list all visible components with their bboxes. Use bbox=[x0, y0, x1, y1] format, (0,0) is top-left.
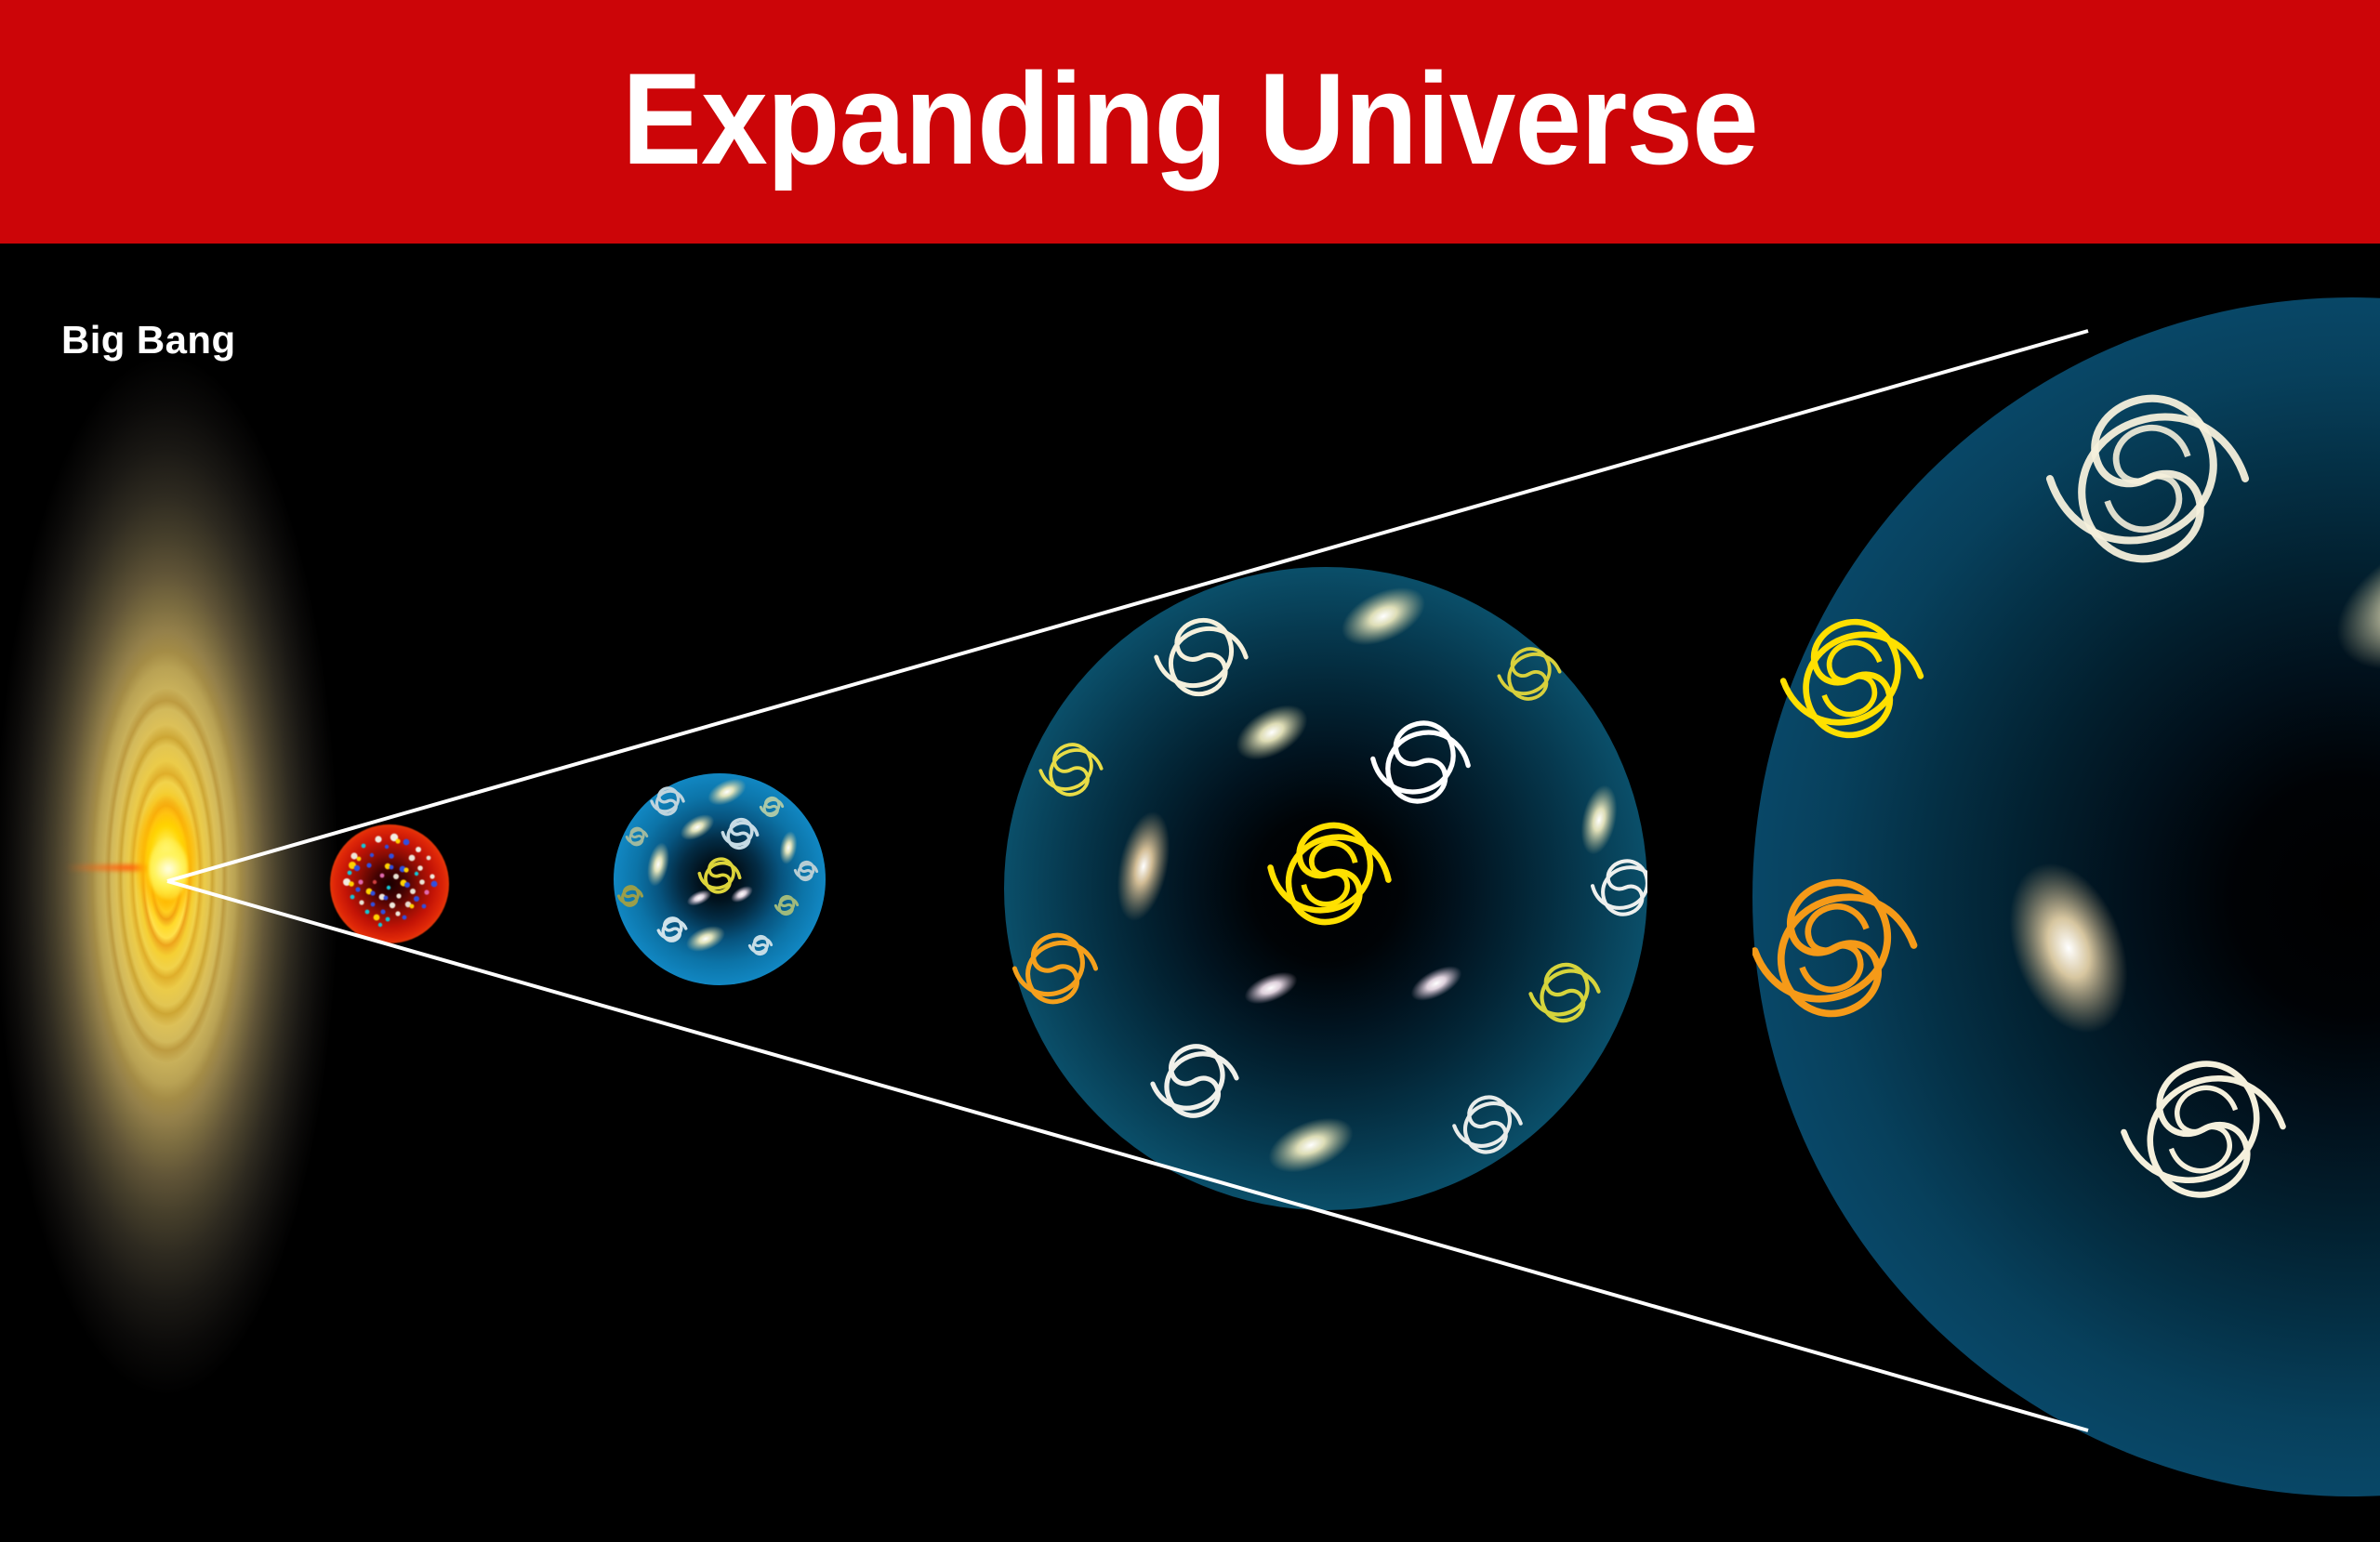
cone-line-bottom bbox=[167, 881, 2088, 1430]
cone-line-top bbox=[167, 331, 2088, 881]
expanding-universe-infographic: Expanding Universe bbox=[0, 0, 2380, 1542]
expansion-cone bbox=[0, 244, 2380, 1542]
universe-scene bbox=[0, 244, 2380, 1542]
page-title: Expanding Universe bbox=[622, 54, 1758, 184]
big-bang-label: Big Bang bbox=[61, 318, 236, 362]
title-bar: Expanding Universe bbox=[0, 0, 2380, 244]
